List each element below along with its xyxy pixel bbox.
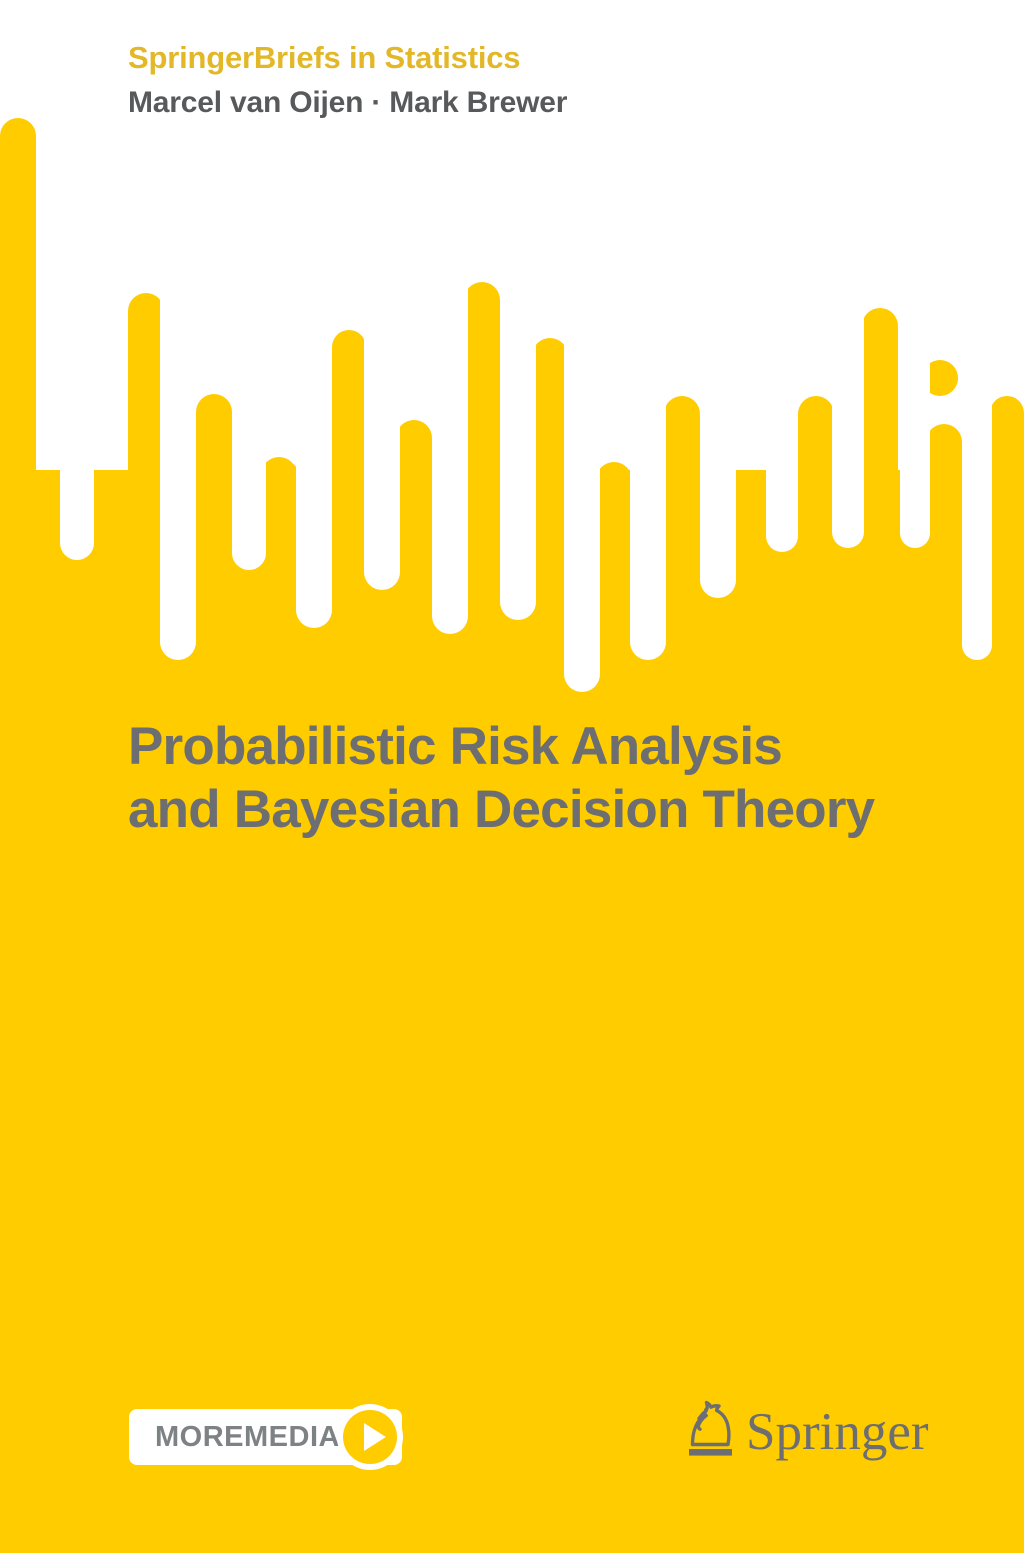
page-title: Probabilistic Risk Analysis and Bayesian… — [128, 716, 958, 841]
series-title: SpringerBriefs in Statistics — [128, 40, 948, 76]
moremedia-label: MOREMEDIA — [155, 1423, 340, 1452]
authors-line: Marcel van Oijen · Mark Brewer — [128, 86, 948, 121]
springer-knight-icon — [693, 1403, 729, 1445]
springer-logo-underline — [689, 1449, 732, 1456]
springer-wordmark: Springer — [746, 1403, 929, 1461]
dot-marker — [261, 457, 297, 493]
springer-logo: Springer — [672, 1393, 930, 1479]
moremedia-badge[interactable]: MOREMEDIA — [129, 1409, 402, 1465]
play-triangle-icon[interactable] — [337, 1404, 403, 1470]
title-line-2: and Bayesian Decision Theory — [128, 779, 958, 842]
header-block: SpringerBriefs in Statistics Marcel van … — [128, 40, 948, 120]
book-cover: SpringerBriefs in Statistics Marcel van … — [0, 0, 1024, 1553]
title-line-1: Probabilistic Risk Analysis — [128, 716, 958, 779]
